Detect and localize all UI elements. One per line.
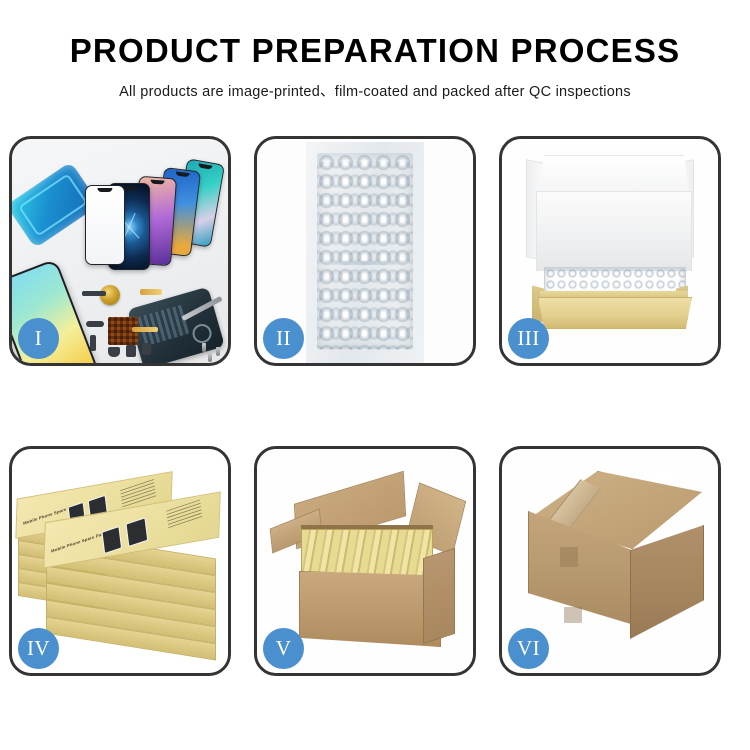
process-step-panel-3: III	[499, 136, 721, 366]
box-label-spec-lines	[166, 499, 202, 528]
screw-icon	[216, 347, 220, 356]
screw-icon	[208, 353, 212, 362]
step-number-badge: VI	[508, 628, 549, 669]
step-number-badge: V	[263, 628, 304, 669]
kraft-tray-front-icon	[538, 297, 692, 329]
step-number-badge: I	[18, 318, 59, 359]
page-subtitle: All products are image-printed、film-coat…	[0, 80, 750, 101]
camera-module-icon	[90, 335, 96, 351]
process-step-panel-2: II	[254, 136, 476, 366]
phone-notch-icon	[175, 171, 189, 177]
process-step-panel-6: VI	[499, 446, 721, 676]
step-number-badge: II	[263, 318, 304, 359]
flex-cable-icon	[140, 289, 162, 295]
sim-tray-icon	[142, 343, 151, 355]
packed-retail-boxes-icon	[301, 529, 433, 577]
step-number-badge: III	[508, 318, 549, 359]
carton-hand-hole-icon	[564, 607, 582, 623]
phone-notch-icon	[97, 188, 112, 192]
flex-cable-icon	[132, 327, 158, 332]
process-step-panel-5: V	[254, 446, 476, 676]
connector-part-icon	[86, 321, 104, 327]
screw-icon	[202, 343, 206, 352]
process-step-panel-4: Mobile Phone Spare Parts Mobile Phone Sp…	[9, 446, 231, 676]
product-preparation-infographic: PRODUCT PREPARATION PROCESS All products…	[0, 0, 750, 750]
process-step-grid: I II	[9, 136, 741, 676]
process-step-panel-1: I	[9, 136, 231, 366]
header: PRODUCT PREPARATION PROCESS All products…	[0, 0, 750, 101]
battery-connector-icon	[126, 345, 136, 357]
carton-right-panel-icon	[423, 548, 455, 644]
phone-screen-white-icon	[85, 185, 125, 265]
page-title: PRODUCT PREPARATION PROCESS	[0, 34, 750, 69]
carton-front-panel-icon	[299, 571, 441, 647]
phone-notch-icon	[150, 180, 165, 185]
carton-hand-hole-icon	[560, 547, 578, 567]
box-label-phone-image	[101, 526, 122, 554]
step-number-badge: IV	[18, 628, 59, 669]
box-lid-inner-icon	[536, 191, 692, 271]
buzzer-part-icon	[108, 347, 120, 357]
bubble-wrap-bubbles-secondary-icon	[317, 162, 413, 350]
earpiece-part-icon	[82, 291, 106, 296]
phone-notch-icon	[198, 163, 213, 169]
box-label-phone-image	[126, 517, 149, 547]
box-label-text: Mobile Phone Spare Parts	[51, 530, 108, 554]
bubble-wrap-seam-icon	[313, 261, 417, 265]
